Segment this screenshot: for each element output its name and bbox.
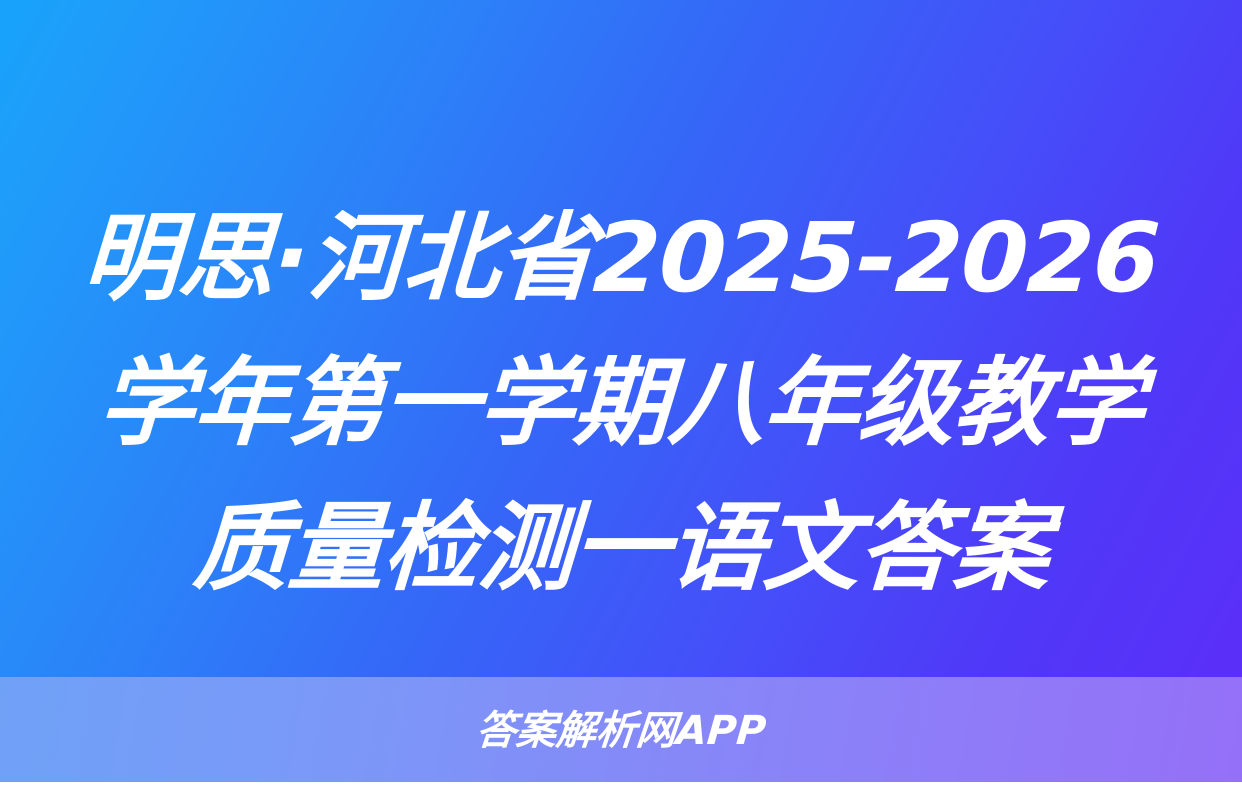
title-line-1: 明思·河北省2025-2026 <box>0 186 1242 331</box>
title-line-2: 学年第一学期八年级教学 <box>0 331 1242 476</box>
footer-watermark: 答案解析网APP <box>0 705 1242 757</box>
bottom-white-strip <box>0 782 1242 800</box>
page-title: 明思·河北省2025-2026 学年第一学期八年级教学 质量检测一语文答案 <box>0 186 1242 621</box>
title-line-3: 质量检测一语文答案 <box>0 476 1242 621</box>
poster-banner: 明思·河北省2025-2026 学年第一学期八年级教学 质量检测一语文答案 答案… <box>0 0 1242 800</box>
